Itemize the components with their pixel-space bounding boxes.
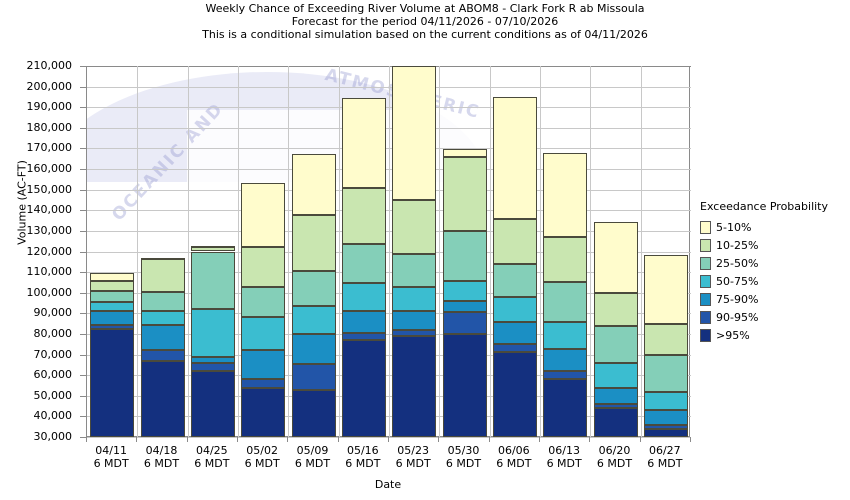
stacked-bar[interactable]	[493, 97, 537, 437]
legend-item-label: 5-10%	[716, 221, 751, 234]
bar-segment[interactable]	[443, 301, 487, 312]
y-axis-tick-label: 80,000	[0, 328, 72, 339]
bar-segment[interactable]	[443, 281, 487, 301]
bar-series-container	[87, 66, 691, 437]
legend-item-label: 90-95%	[716, 311, 758, 324]
bar-segment[interactable]	[191, 252, 235, 310]
bar-segment[interactable]	[644, 324, 688, 355]
bar-segment[interactable]	[191, 357, 235, 363]
legend-item[interactable]: >95%	[700, 326, 850, 344]
bar-segment[interactable]	[443, 334, 487, 437]
bar-segment[interactable]	[543, 371, 587, 379]
y-axis-tick-label: 60,000	[0, 369, 72, 380]
bar-segment[interactable]	[443, 231, 487, 281]
y-axis-tick-label: 70,000	[0, 349, 72, 360]
bar-segment[interactable]	[241, 247, 285, 286]
stacked-bar[interactable]	[191, 246, 235, 437]
legend-item-label: 10-25%	[716, 239, 758, 252]
bar-segment[interactable]	[644, 425, 688, 429]
bar-segment[interactable]	[90, 311, 134, 324]
bar-segment[interactable]	[594, 363, 638, 388]
x-axis-tick	[187, 437, 188, 442]
x-axis-tick	[438, 437, 439, 442]
bar-segment[interactable]	[191, 246, 235, 248]
y-axis-tick-label: 120,000	[0, 246, 72, 257]
y-axis-tick-label: 210,000	[0, 60, 72, 71]
legend-item[interactable]: 50-75%	[700, 272, 850, 290]
stacked-bar[interactable]	[141, 258, 185, 437]
x-axis-tick	[640, 437, 641, 442]
legend: Exceedance Probability 5-10%10-25%25-50%…	[700, 200, 850, 344]
bar-segment[interactable]	[141, 258, 185, 260]
bar-segment[interactable]	[141, 350, 185, 360]
y-axis-tick-label: 40,000	[0, 410, 72, 421]
bar-segment[interactable]	[141, 325, 185, 351]
bar-segment[interactable]	[241, 317, 285, 350]
legend-color-swatch	[700, 257, 711, 270]
bar-segment[interactable]	[392, 66, 436, 200]
x-axis-tick	[237, 437, 238, 442]
y-axis-tick-label: 110,000	[0, 266, 72, 277]
legend-item-label: 25-50%	[716, 257, 758, 270]
bar-segment[interactable]	[241, 183, 285, 247]
stacked-bar[interactable]	[644, 255, 688, 437]
bar-segment[interactable]	[594, 388, 638, 404]
bar-segment[interactable]	[644, 392, 688, 411]
x-axis-title: Date	[0, 478, 776, 491]
bar-segment[interactable]	[594, 326, 638, 363]
bar-segment[interactable]	[241, 350, 285, 379]
legend-color-swatch	[700, 221, 711, 234]
x-axis-tick	[136, 437, 137, 442]
chart-title-block: Weekly Chance of Exceeding River Volume …	[0, 2, 850, 41]
gridline	[87, 437, 691, 438]
bar-segment[interactable]	[141, 311, 185, 324]
bar-segment[interactable]	[594, 408, 638, 437]
bar-segment[interactable]	[342, 244, 386, 283]
bar-segment[interactable]	[392, 311, 436, 330]
chart-root: Weekly Chance of Exceeding River Volume …	[0, 0, 850, 500]
bar-segment[interactable]	[342, 340, 386, 437]
bar-segment[interactable]	[594, 293, 638, 326]
bar-segment[interactable]	[292, 364, 336, 390]
bar-segment[interactable]	[392, 330, 436, 336]
bar-segment[interactable]	[141, 259, 185, 292]
bar-segment[interactable]	[392, 287, 436, 312]
bar-segment[interactable]	[90, 281, 134, 290]
bar-segment[interactable]	[493, 219, 537, 264]
stacked-bar[interactable]	[543, 153, 587, 437]
bar-segment[interactable]	[543, 237, 587, 282]
y-axis-tick-label: 150,000	[0, 184, 72, 195]
bar-segment[interactable]	[594, 222, 638, 293]
bar-segment[interactable]	[292, 215, 336, 271]
bar-segment[interactable]	[443, 312, 487, 334]
y-axis-tick-label: 130,000	[0, 225, 72, 236]
bar-segment[interactable]	[90, 329, 134, 437]
bar-segment[interactable]	[292, 271, 336, 306]
bar-segment[interactable]	[644, 410, 688, 424]
stacked-bar[interactable]	[241, 183, 285, 437]
x-axis-label-date: 06/27	[630, 444, 700, 457]
plot-area: OCEANIC AND ATMOSPHERIC	[86, 66, 690, 437]
legend-title: Exceedance Probability	[700, 200, 850, 213]
stacked-bar[interactable]	[292, 154, 336, 437]
legend-item[interactable]: 25-50%	[700, 254, 850, 272]
bar-segment[interactable]	[493, 97, 537, 219]
bar-segment[interactable]	[241, 287, 285, 318]
bar-segment[interactable]	[90, 291, 134, 302]
bar-segment[interactable]	[493, 344, 537, 352]
bar-segment[interactable]	[443, 149, 487, 156]
y-axis-tick-label: 90,000	[0, 307, 72, 318]
bar-segment[interactable]	[141, 361, 185, 437]
x-axis-tick	[86, 437, 87, 442]
stacked-bar[interactable]	[342, 98, 386, 437]
bar-segment[interactable]	[392, 200, 436, 254]
x-axis-tick	[690, 437, 691, 442]
legend-item[interactable]: 90-95%	[700, 308, 850, 326]
stacked-bar[interactable]	[392, 66, 436, 437]
x-axis-tick-label: 06/276 MDT	[630, 444, 700, 470]
y-axis-tick-label: 160,000	[0, 163, 72, 174]
bar-segment[interactable]	[543, 379, 587, 437]
bar-segment[interactable]	[90, 325, 134, 329]
bar-segment[interactable]	[342, 333, 386, 340]
legend-items: 5-10%10-25%25-50%50-75%75-90%90-95%>95%	[700, 218, 850, 344]
bar-segment[interactable]	[543, 322, 587, 350]
chart-title-line1: Weekly Chance of Exceeding River Volume …	[0, 2, 850, 15]
y-axis-tick-label: 170,000	[0, 142, 72, 153]
bar-segment[interactable]	[644, 429, 688, 437]
y-axis-tick-label: 30,000	[0, 431, 72, 442]
legend-item[interactable]: 75-90%	[700, 290, 850, 308]
bar-segment[interactable]	[342, 98, 386, 188]
legend-item-label: >95%	[716, 329, 750, 342]
bar-segment[interactable]	[493, 352, 537, 437]
legend-item[interactable]: 5-10%	[700, 218, 850, 236]
bar-segment[interactable]	[342, 188, 386, 245]
y-axis-tick-label: 140,000	[0, 204, 72, 215]
bar-segment[interactable]	[493, 264, 537, 297]
bar-segment[interactable]	[191, 309, 235, 356]
legend-color-swatch	[700, 275, 711, 288]
bar-segment[interactable]	[342, 283, 386, 311]
bar-segment[interactable]	[543, 153, 587, 238]
bar-segment[interactable]	[292, 154, 336, 216]
x-axis-label-time: 6 MDT	[630, 457, 700, 470]
stacked-bar[interactable]	[90, 273, 134, 437]
y-axis-tick-label: 200,000	[0, 81, 72, 92]
bar-segment[interactable]	[594, 404, 638, 408]
bar-segment[interactable]	[191, 371, 235, 437]
bar-segment[interactable]	[644, 255, 688, 324]
x-axis-tick	[489, 437, 490, 442]
bar-segment[interactable]	[493, 297, 537, 322]
legend-color-swatch	[700, 239, 711, 252]
bar-segment[interactable]	[241, 379, 285, 387]
chart-title-line3: This is a conditional simulation based o…	[0, 28, 850, 41]
y-axis-tick-label: 100,000	[0, 287, 72, 298]
bar-segment[interactable]	[392, 254, 436, 287]
bar-segment[interactable]	[493, 322, 537, 345]
x-axis-tick	[338, 437, 339, 442]
x-axis-tick	[589, 437, 590, 442]
bar-segment[interactable]	[292, 306, 336, 334]
bar-segment[interactable]	[443, 157, 487, 231]
y-axis-tick-label: 50,000	[0, 390, 72, 401]
y-axis-tick-label: 180,000	[0, 122, 72, 133]
bar-segment[interactable]	[241, 388, 285, 437]
legend-item-label: 75-90%	[716, 293, 758, 306]
bar-segment[interactable]	[644, 355, 688, 392]
y-axis-tick-label: 190,000	[0, 101, 72, 112]
legend-item[interactable]: 10-25%	[700, 236, 850, 254]
stacked-bar[interactable]	[594, 222, 638, 437]
x-axis-tick	[287, 437, 288, 442]
bar-segment[interactable]	[90, 302, 134, 311]
bar-segment[interactable]	[292, 334, 336, 364]
bar-segment[interactable]	[191, 363, 235, 371]
chart-title-line2: Forecast for the period 04/11/2026 - 07/…	[0, 15, 850, 28]
bar-segment[interactable]	[342, 311, 386, 333]
legend-color-swatch	[700, 293, 711, 306]
x-axis-tick	[539, 437, 540, 442]
legend-color-swatch	[700, 329, 711, 342]
bar-segment[interactable]	[292, 390, 336, 437]
bar-segment[interactable]	[392, 336, 436, 437]
stacked-bar[interactable]	[443, 149, 487, 437]
legend-color-swatch	[700, 311, 711, 324]
legend-item-label: 50-75%	[716, 275, 758, 288]
bar-segment[interactable]	[141, 292, 185, 312]
bar-segment[interactable]	[543, 282, 587, 321]
bar-segment[interactable]	[543, 349, 587, 371]
x-axis-tick	[388, 437, 389, 442]
bar-segment[interactable]	[90, 273, 134, 281]
